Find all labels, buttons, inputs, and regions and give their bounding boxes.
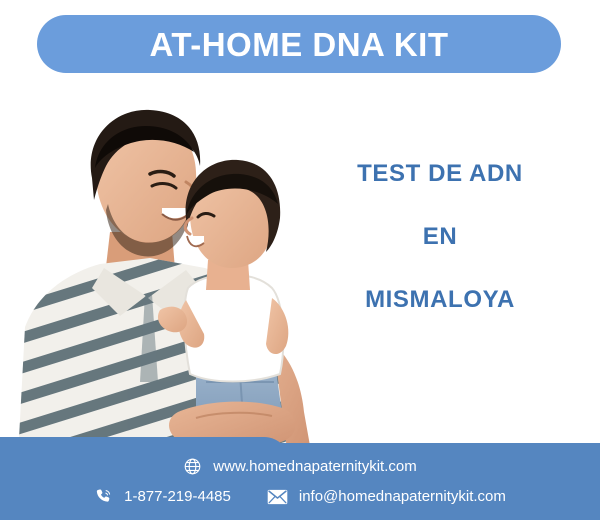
headline-line-2: EN [320,225,560,249]
globe-icon [183,457,202,476]
headline-line-1: TEST DE ADN [320,162,560,186]
footer-contact-info: www.homednapaternitykit.com 1-877-219-44… [0,443,600,520]
footer-website-row[interactable]: www.homednapaternitykit.com [0,457,600,476]
footer-email-group[interactable]: info@homednapaternitykit.com [267,489,506,505]
footer-email-label: info@homednapaternitykit.com [299,489,506,504]
phone-icon [94,487,113,506]
footer-phone-group[interactable]: 1-877-219-4485 [94,487,231,506]
footer-website-label: www.homednapaternitykit.com [213,459,416,474]
promo-banner: AT-HOME DNA KIT [0,0,600,520]
footer-phone-label: 1-877-219-4485 [124,489,231,504]
headline-block: TEST DE ADN EN MISMALOYA [320,162,560,312]
envelope-icon [267,489,288,505]
header-banner-pill: AT-HOME DNA KIT [37,15,561,73]
footer-contact-row: 1-877-219-4485 info@homednapaternitykit.… [0,487,600,506]
father-and-child-photo [0,82,330,457]
headline-line-3: MISMALOYA [320,288,560,312]
header-title: AT-HOME DNA KIT [150,28,449,61]
